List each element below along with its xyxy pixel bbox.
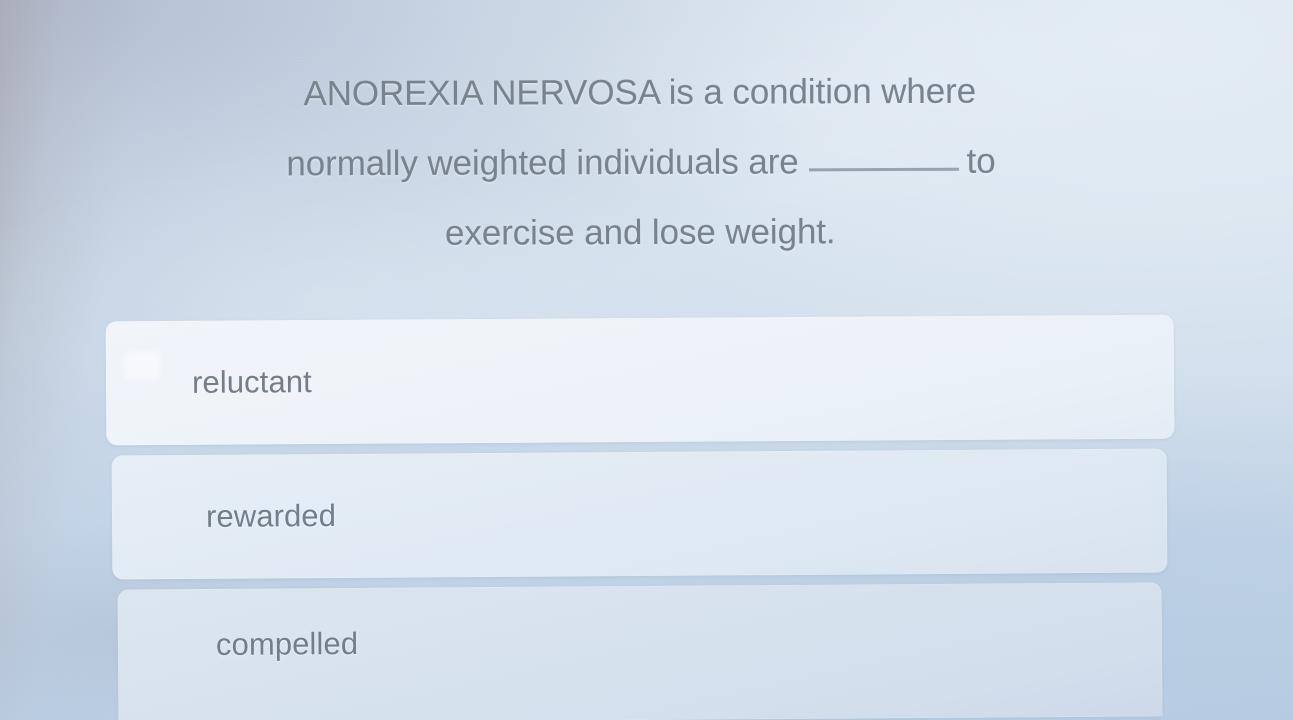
answer-option-compelled[interactable]: compelled (118, 582, 1163, 720)
question-line-2-prefix: normally weighted individuals are (286, 142, 798, 183)
question-text: ANOREXIA NERVOSA is a condition where no… (160, 56, 1121, 270)
screen-smudge (124, 352, 160, 380)
question-line-3: exercise and lose weight. (160, 196, 1120, 270)
answer-option-reluctant[interactable]: reluctant (106, 315, 1175, 446)
quiz-screen: ANOREXIA NERVOSA is a condition where no… (0, 0, 1293, 720)
question-line-1: ANOREXIA NERVOSA is a condition where (160, 56, 1120, 130)
answer-option-rewarded[interactable]: rewarded (112, 449, 1168, 580)
question-line-2-suffix: to (967, 142, 996, 181)
question-line-2: normally weighted individuals areto (162, 126, 1120, 200)
answer-option-label: rewarded (112, 498, 336, 535)
answer-option-label: compelled (118, 626, 359, 686)
answer-blank (809, 168, 959, 172)
